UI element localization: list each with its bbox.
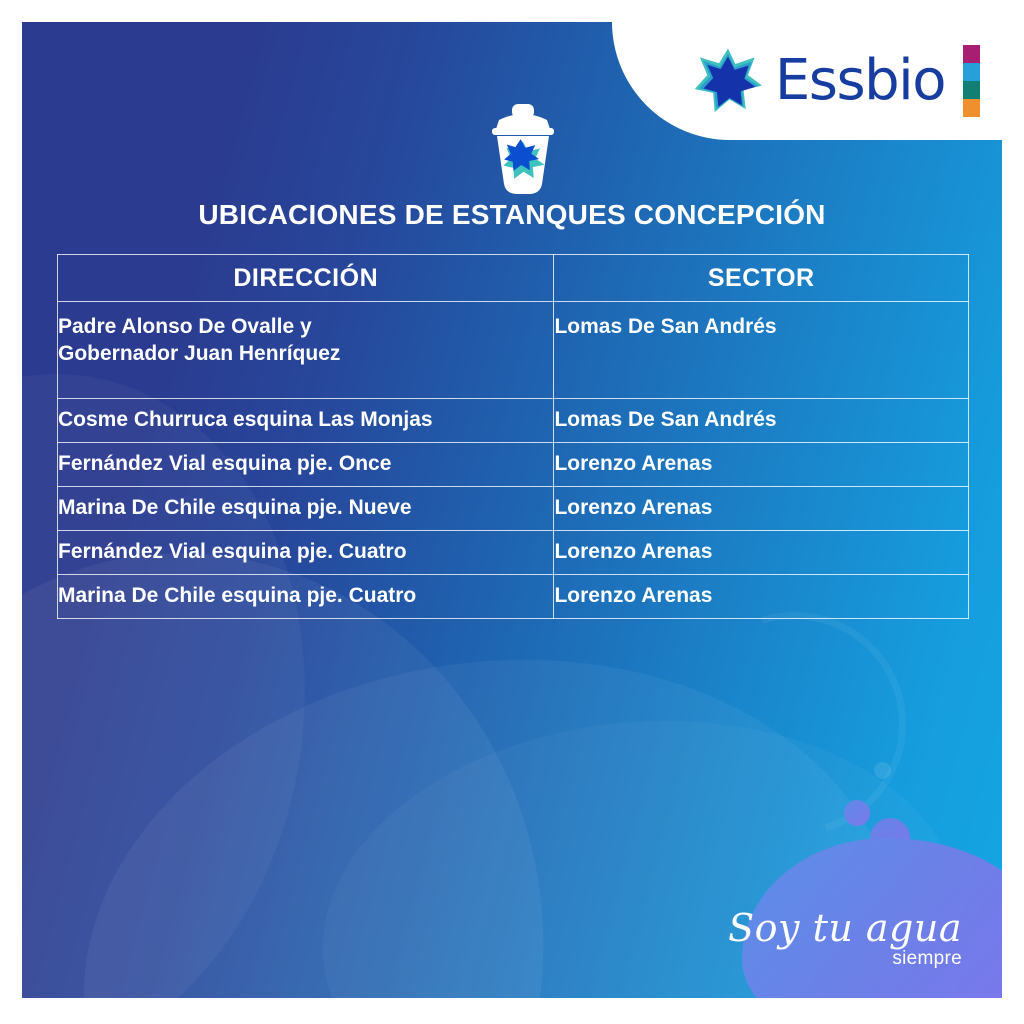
cell-sector: Lorenzo Arenas <box>554 487 969 531</box>
tagline: Soy tu agua siempre <box>728 909 962 968</box>
cell-sector: Lomas De San Andrés <box>554 399 969 443</box>
background-bubble-decoration <box>874 762 891 779</box>
tagline-sub-text: siempre <box>728 949 962 968</box>
brand-wordmark: Essbio <box>775 53 945 109</box>
cell-direccion: Fernández Vial esquina pje. Cuatro <box>58 531 554 575</box>
cell-direccion: Padre Alonso De Ovalle y Gobernador Juan… <box>58 302 554 399</box>
table-row: Marina De Chile esquina pje. Nueve Loren… <box>58 487 969 531</box>
table-row: Fernández Vial esquina pje. Cuatro Loren… <box>58 531 969 575</box>
colorbar-segment-teal <box>963 81 980 99</box>
info-card: Essbio UBICACIONES DE ESTANQUES CONCEPCI… <box>22 22 1002 998</box>
tagline-main-text: Soy tu agua <box>728 909 962 947</box>
tagline-bubble-medium <box>844 800 870 826</box>
cell-sector: Lorenzo Arenas <box>554 575 969 619</box>
tagline-bubble-small <box>792 866 806 880</box>
cell-sector: Lomas De San Andrés <box>554 302 969 399</box>
colorbar-segment-magenta <box>963 45 980 63</box>
cell-sector: Lorenzo Arenas <box>554 443 969 487</box>
colorbar-segment-orange <box>963 99 980 117</box>
cell-direccion: Fernández Vial esquina pje. Once <box>58 443 554 487</box>
table-header-row: DIRECCIÓN SECTOR <box>58 255 969 302</box>
cell-sector: Lorenzo Arenas <box>554 531 969 575</box>
locations-table: DIRECCIÓN SECTOR Padre Alonso De Ovalle … <box>57 254 969 619</box>
brand-lockup: Essbio <box>691 44 945 118</box>
column-header-direccion: DIRECCIÓN <box>58 255 554 302</box>
direccion-line-1: Padre Alonso De Ovalle y <box>58 315 312 338</box>
colorbar-segment-blue <box>963 63 980 81</box>
direccion-line-2: Gobernador Juan Henríquez <box>58 342 340 365</box>
table-row: Fernández Vial esquina pje. Once Lorenzo… <box>58 443 969 487</box>
table-row: Padre Alonso De Ovalle y Gobernador Juan… <box>58 302 969 399</box>
essbio-star-icon <box>691 44 765 118</box>
table-row: Marina De Chile esquina pje. Cuatro Lore… <box>58 575 969 619</box>
tagline-bubble-large <box>870 818 910 858</box>
cell-direccion: Marina De Chile esquina pje. Nueve <box>58 487 554 531</box>
cell-direccion: Marina De Chile esquina pje. Cuatro <box>58 575 554 619</box>
page-title: UBICACIONES DE ESTANQUES CONCEPCIÓN <box>22 199 1002 231</box>
locations-table-wrapper: DIRECCIÓN SECTOR Padre Alonso De Ovalle … <box>57 254 969 619</box>
cell-direccion: Cosme Churruca esquina Las Monjas <box>58 399 554 443</box>
table-row: Cosme Churruca esquina Las Monjas Lomas … <box>58 399 969 443</box>
brand-logo-panel: Essbio <box>612 22 1002 140</box>
column-header-sector: SECTOR <box>554 255 969 302</box>
poster-canvas: Essbio UBICACIONES DE ESTANQUES CONCEPCI… <box>0 0 1024 1024</box>
water-tank-icon <box>471 96 575 200</box>
brand-colorbar <box>963 45 980 117</box>
